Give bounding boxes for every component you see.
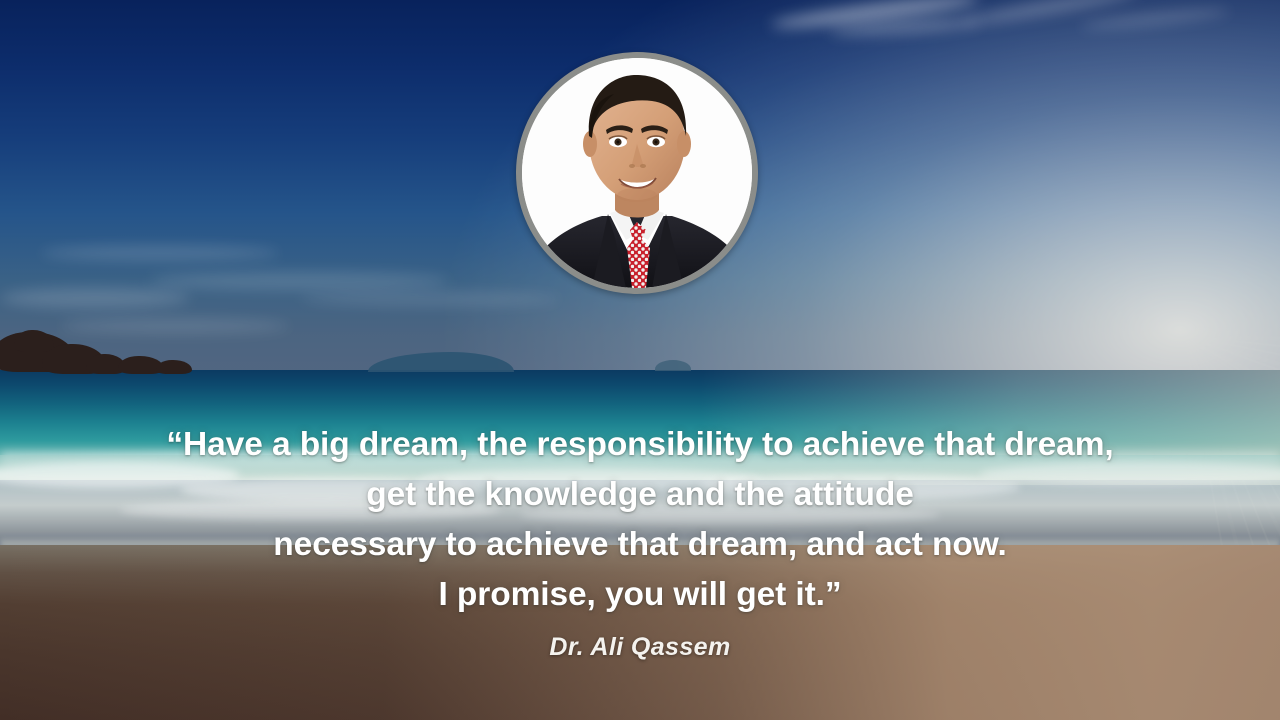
quote-text-block: “Have a big dream, the responsibility to… <box>0 420 1280 620</box>
quote-line-2: get the knowledge and the attitude <box>0 470 1280 520</box>
rocky-headland <box>0 330 200 374</box>
portrait-photo <box>522 58 752 288</box>
quote-line-1: “Have a big dream, the responsibility to… <box>0 420 1280 470</box>
cloud-wisp <box>0 288 190 308</box>
cloud-wisp <box>40 246 280 260</box>
quote-line-4: I promise, you will get it.” <box>0 570 1280 620</box>
quote-slide: “Have a big dream, the responsibility to… <box>0 0 1280 720</box>
portrait-avatar <box>516 52 758 294</box>
quote-line-3: necessary to achieve that dream, and act… <box>0 520 1280 570</box>
cloud-wisp <box>300 292 560 306</box>
attribution-name: Dr. Ali Qassem <box>0 633 1280 662</box>
portrait-frame <box>522 58 752 288</box>
cloud-wisp <box>150 272 450 290</box>
island-small <box>655 360 691 371</box>
